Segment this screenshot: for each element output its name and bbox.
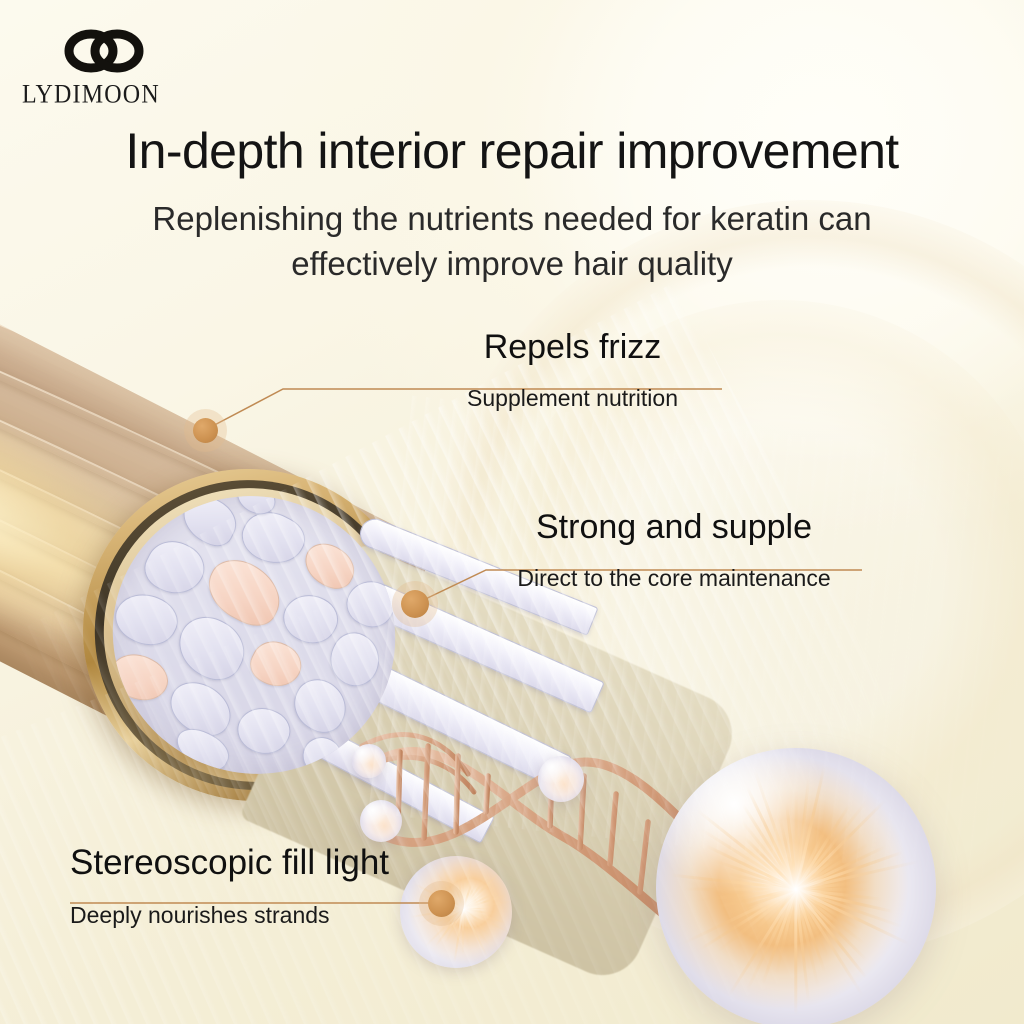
callout-repels-frizz[interactable]: Repels frizz Supplement nutrition bbox=[420, 330, 725, 412]
callout-subtitle: Supplement nutrition bbox=[420, 385, 725, 411]
product-infographic-poster: LYDIMOON In-depth interior repair improv… bbox=[0, 0, 1024, 1024]
interlocking-rings-icon bbox=[64, 28, 144, 74]
brand-logo[interactable]: LYDIMOON bbox=[22, 28, 212, 107]
page-subtitle-line-1: Replenishing the nutrients needed for ke… bbox=[0, 197, 1024, 242]
callout-title: Stereoscopic fill light bbox=[70, 845, 446, 882]
callout-title: Repels frizz bbox=[420, 330, 725, 366]
callout-marker-dot-2[interactable] bbox=[401, 590, 429, 618]
callout-stereoscopic-fill-light[interactable]: Stereoscopic fill light Deeply nourishes… bbox=[70, 845, 446, 929]
callout-marker-dot-3[interactable] bbox=[428, 890, 455, 917]
callout-subtitle: Direct to the core maintenance bbox=[486, 565, 862, 591]
light-rays-right bbox=[360, 395, 1024, 886]
brand-name: LYDIMOON bbox=[22, 80, 212, 110]
page-subtitle: Replenishing the nutrients needed for ke… bbox=[0, 197, 1024, 286]
callout-title: Strong and supple bbox=[486, 510, 862, 546]
callout-strong-and-supple[interactable]: Strong and supple Direct to the core mai… bbox=[486, 510, 862, 592]
page-title: In-depth interior repair improvement bbox=[0, 122, 1024, 180]
callout-subtitle: Deeply nourishes strands bbox=[70, 902, 446, 928]
callout-marker-dot-1[interactable] bbox=[193, 418, 218, 443]
page-subtitle-line-2: effectively improve hair quality bbox=[0, 242, 1024, 287]
